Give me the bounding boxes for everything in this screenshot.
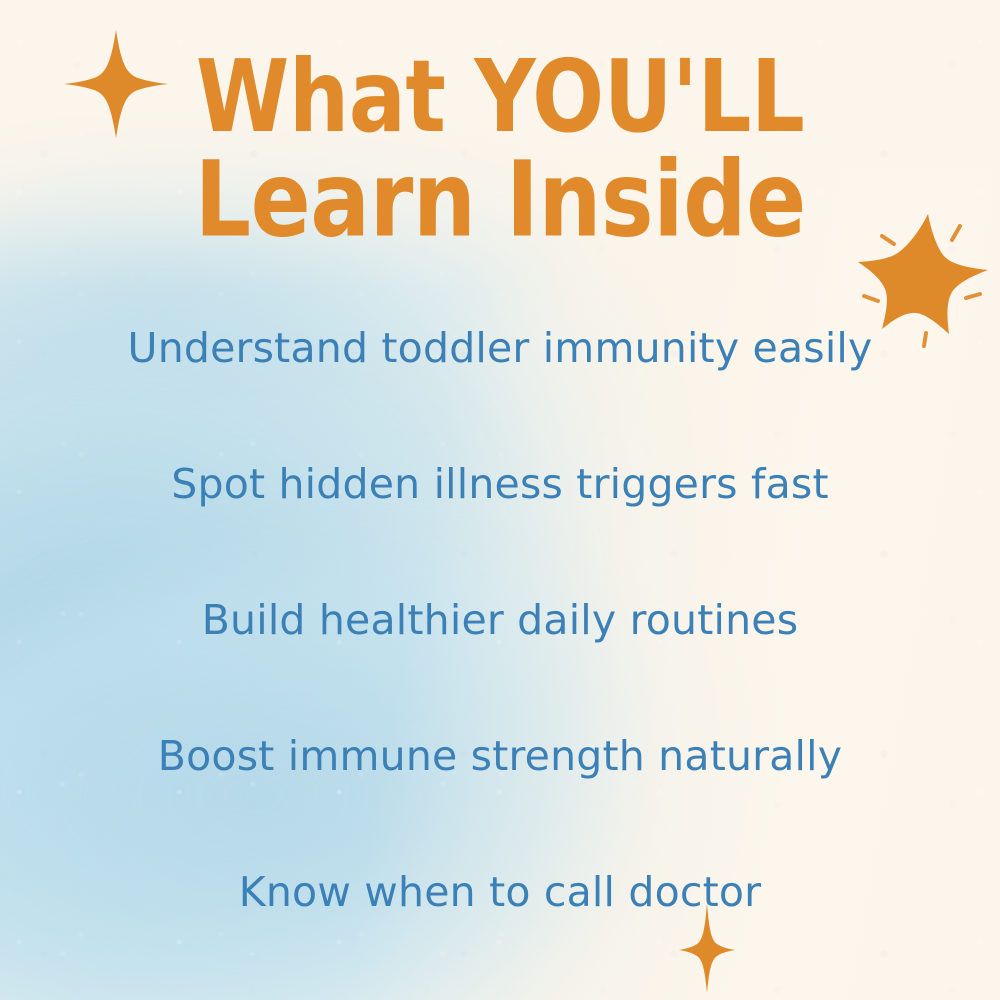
benefit-item: Know when to call doctor: [239, 868, 761, 916]
poster-canvas: What YOU'LL Learn Inside Understand todd…: [0, 0, 1000, 1000]
benefit-list: Understand toddler immunity easily Spot …: [0, 324, 1000, 916]
benefit-item: Spot hidden illness triggers fast: [171, 460, 829, 508]
benefit-item: Understand toddler immunity easily: [128, 324, 873, 372]
title-line-1: What YOU'LL: [194, 52, 805, 145]
poster-content: What YOU'LL Learn Inside Understand todd…: [0, 0, 1000, 1000]
benefit-item: Boost immune strength naturally: [158, 732, 842, 780]
poster-title: What YOU'LL Learn Inside: [190, 52, 810, 236]
title-line-2: Learn Inside: [194, 152, 805, 249]
benefit-item: Build healthier daily routines: [202, 596, 799, 644]
